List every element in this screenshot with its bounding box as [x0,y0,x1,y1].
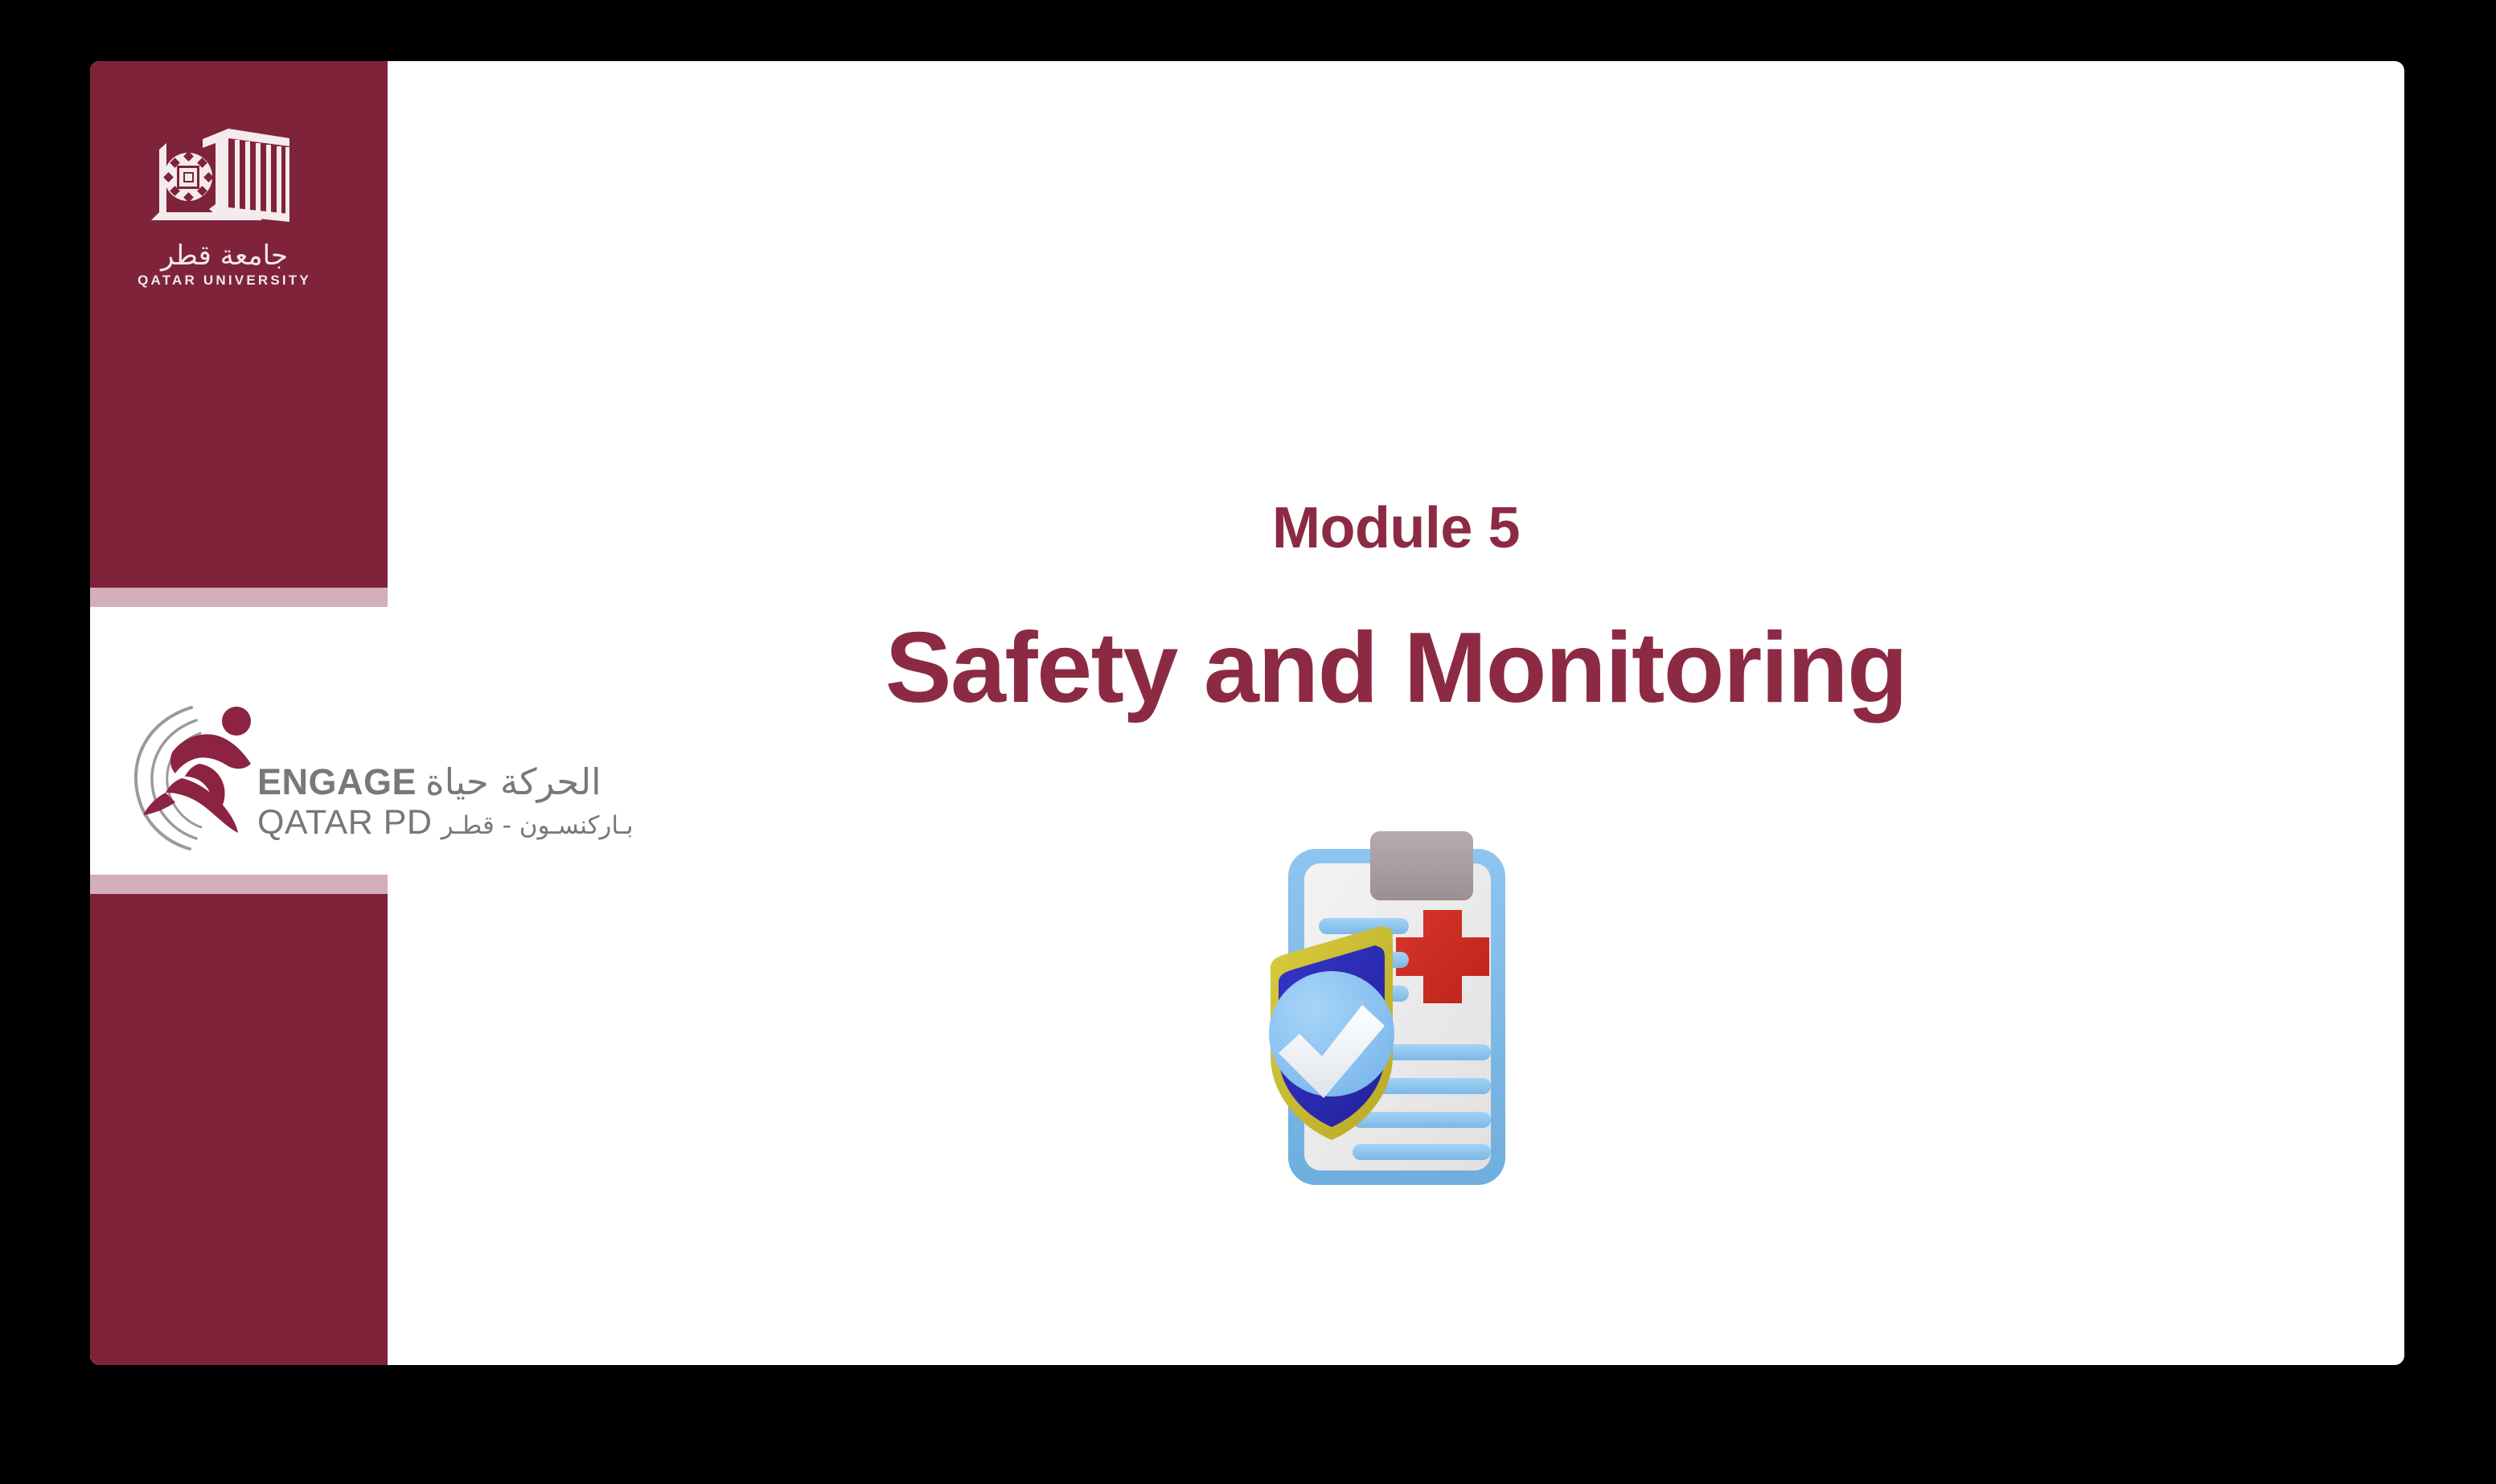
qatar-university-logo: جامعة قطر QATAR UNIVERSITY [132,113,317,289]
engage-qatar-pd-logo: ENGAGE الحركة حياة QATAR PD بـاركنسـون -… [122,696,621,857]
engage-program-arabic: بـاركنسـون - قطـر [441,813,633,838]
qatar-university-building-emblem-icon [132,113,317,233]
qatar-university-wordmark: جامعة قطر QATAR UNIVERSITY [132,240,317,289]
qatar-university-arabic-name: جامعة قطر [132,240,317,272]
engage-name-latin: ENGAGE [257,764,417,801]
sidebar-band-bottom [90,894,388,1365]
slide-main-content: Module 5 Safety and Monitoring [388,61,2404,1365]
engage-name-arabic: الحركة حياة [425,764,601,801]
slide-sidebar: جامعة قطر QATAR UNIVERSITY [90,61,388,1365]
sidebar-divider-bottom [90,875,388,894]
engage-wordmark: ENGAGE الحركة حياة QATAR PD بـاركنسـون -… [257,764,619,841]
slide-title: Safety and Monitoring [388,613,2404,724]
engage-program-latin: QATAR PD [257,805,432,841]
module-label: Module 5 [388,495,2404,561]
qatar-university-latin-name: QATAR UNIVERSITY [132,273,317,289]
medical-clipboard-with-safety-shield-icon [1158,815,1592,1233]
sidebar-divider-top [90,588,388,607]
presentation-slide: جامعة قطر QATAR UNIVERSITY [90,61,2404,1365]
